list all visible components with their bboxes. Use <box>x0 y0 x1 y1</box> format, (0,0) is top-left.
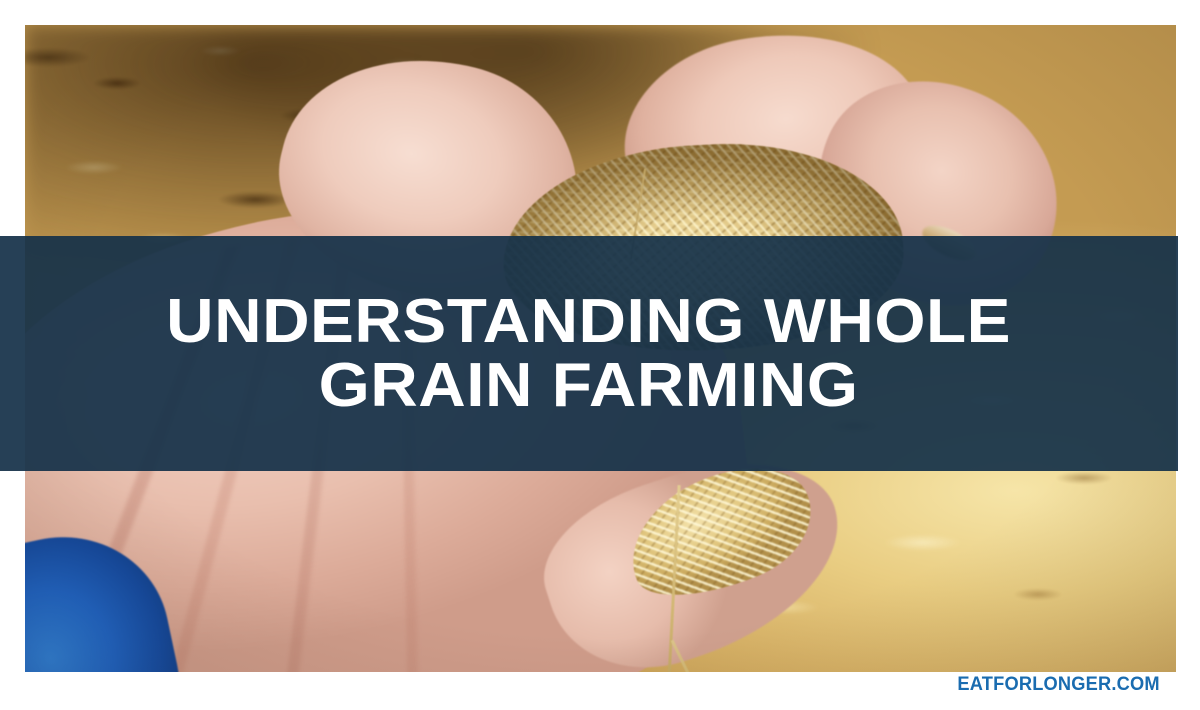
featured-image-canvas: Understanding Whole Grain Farming EATFOR… <box>0 0 1200 710</box>
page-title: Understanding Whole Grain Farming <box>167 290 1012 418</box>
title-banner: Understanding Whole Grain Farming <box>0 236 1178 471</box>
site-watermark: EATFORLONGER.COM <box>958 674 1160 696</box>
